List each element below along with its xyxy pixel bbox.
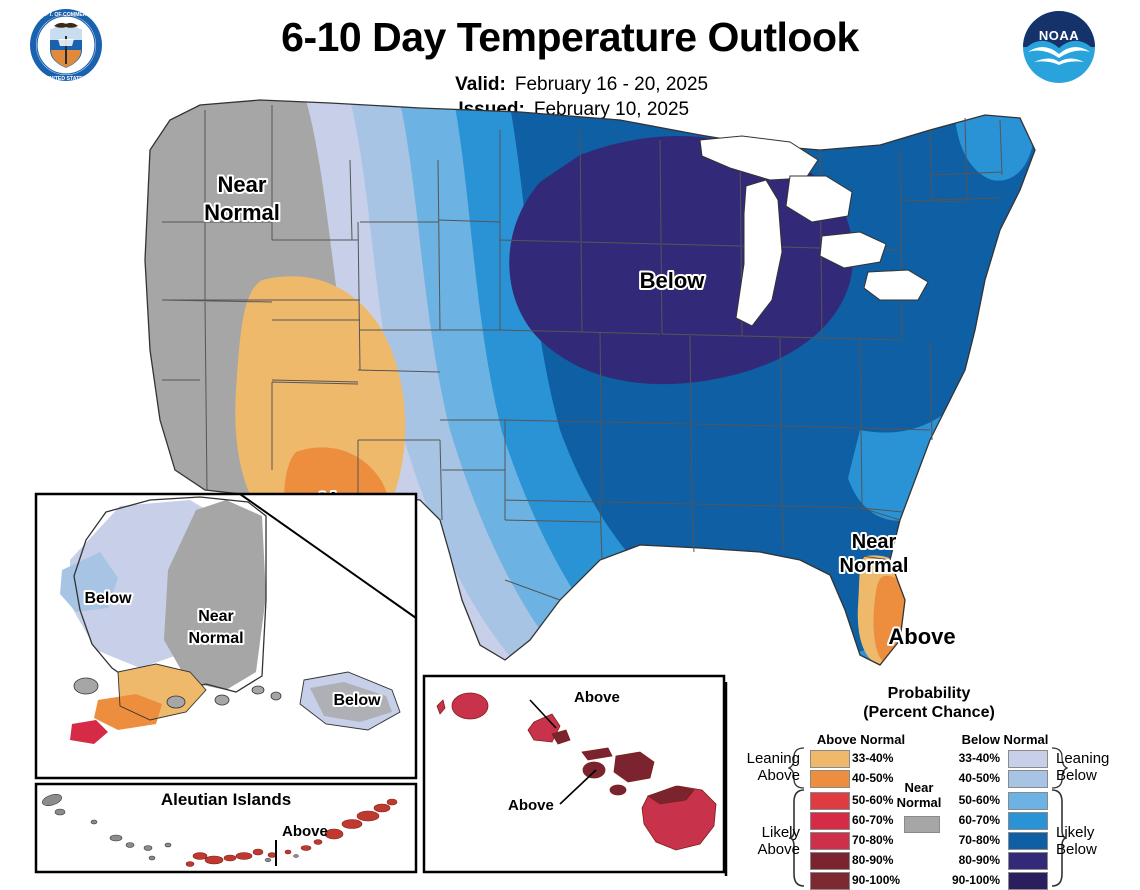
- legend-pct-above-4: 70-80%: [852, 832, 912, 848]
- legend-likely-above-label: Likely Above: [726, 824, 800, 858]
- legend-swatch-above-2: [810, 792, 850, 810]
- label-hawaii-above-2: Above: [508, 797, 554, 814]
- label-alaska-near-normal-line1: Near: [198, 608, 234, 625]
- legend-swatch-above-0: [810, 750, 850, 768]
- label-aleutian-above: Above: [282, 823, 328, 840]
- legend-swatch-below-4: [1008, 832, 1048, 850]
- label-alaska-near-normal-line2: Normal: [188, 630, 243, 647]
- legend-near-normal-label: Near Normal: [886, 780, 952, 810]
- legend-swatch-above-5: [810, 852, 850, 870]
- legend-swatch-below-5: [1008, 852, 1048, 870]
- legend-below-header: Below Normal: [950, 732, 1060, 747]
- legend-leaning-below-label: Leaning Below: [1056, 750, 1132, 784]
- legend-likely-below-label: Likely Below: [1056, 824, 1132, 858]
- leaning-below-line2: Below: [1056, 767, 1097, 784]
- near-normal-line2: Normal: [897, 795, 942, 810]
- legend-pct-below-0: 33-40%: [940, 750, 1000, 766]
- legend-pct-below-6: 90-100%: [940, 872, 1000, 888]
- legend-pct-above-0: 33-40%: [852, 750, 912, 766]
- legend-swatch-above-6: [810, 872, 850, 890]
- legend-title-line1: Probability: [888, 685, 971, 702]
- label-near-normal-se-line1: Near: [852, 531, 897, 553]
- legend-pct-above-6: 90-100%: [852, 872, 912, 888]
- legend-swatch-above-1: [810, 770, 850, 788]
- label-alaska-below-west: Below: [84, 590, 132, 607]
- legend-pct-below-3: 60-70%: [940, 812, 1000, 828]
- near-normal-line1: Near: [905, 780, 934, 795]
- legend: Probability (Percent Chance) Above Norma…: [726, 684, 1132, 876]
- legend-swatch-below-0: [1008, 750, 1048, 768]
- label-near-normal-se-line2: Normal: [840, 555, 909, 577]
- likely-below-line1: Likely: [1056, 824, 1094, 841]
- likely-above-line2: Above: [757, 841, 800, 858]
- label-aleutian-islands: Aleutian Islands: [161, 790, 291, 809]
- label-hawaii-above-1: Above: [574, 689, 620, 706]
- band-above-40-50-fl: [874, 576, 912, 664]
- leaning-above-line1: Leaning: [747, 750, 800, 767]
- legend-swatch-below-2: [1008, 792, 1048, 810]
- label-above-florida: Above: [888, 624, 955, 649]
- likely-above-line1: Likely: [762, 824, 800, 841]
- label-near-normal-nw-line1: Near: [218, 172, 267, 197]
- legend-swatch-above-4: [810, 832, 850, 850]
- leaning-above-line2: Above: [757, 767, 800, 784]
- legend-pct-below-5: 80-90%: [940, 852, 1000, 868]
- legend-title: Probability (Percent Chance): [726, 684, 1132, 722]
- legend-pct-above-5: 80-90%: [852, 852, 912, 868]
- legend-swatch-above-3: [810, 812, 850, 830]
- legend-swatch-below-1: [1008, 770, 1048, 788]
- legend-swatch-below-3: [1008, 812, 1048, 830]
- legend-pct-below-4: 70-80%: [940, 832, 1000, 848]
- label-below-conus: Below: [640, 268, 706, 293]
- legend-swatch-near-normal: [904, 816, 940, 833]
- legend-pct-above-3: 60-70%: [852, 812, 912, 828]
- legend-title-line2: (Percent Chance): [863, 704, 995, 721]
- legend-above-header: Above Normal: [806, 732, 916, 747]
- likely-below-line2: Below: [1056, 841, 1097, 858]
- label-near-normal-nw-line2: Normal: [204, 200, 280, 225]
- leaning-below-line1: Leaning: [1056, 750, 1109, 767]
- legend-swatch-below-6: [1008, 872, 1048, 890]
- legend-leaning-above-label: Leaning Above: [726, 750, 800, 784]
- label-alaska-below-southeast: Below: [333, 692, 381, 709]
- outlook-map-page: DEPT. OF COMMERCE UNITED STATES NOAA 6-1…: [0, 0, 1140, 880]
